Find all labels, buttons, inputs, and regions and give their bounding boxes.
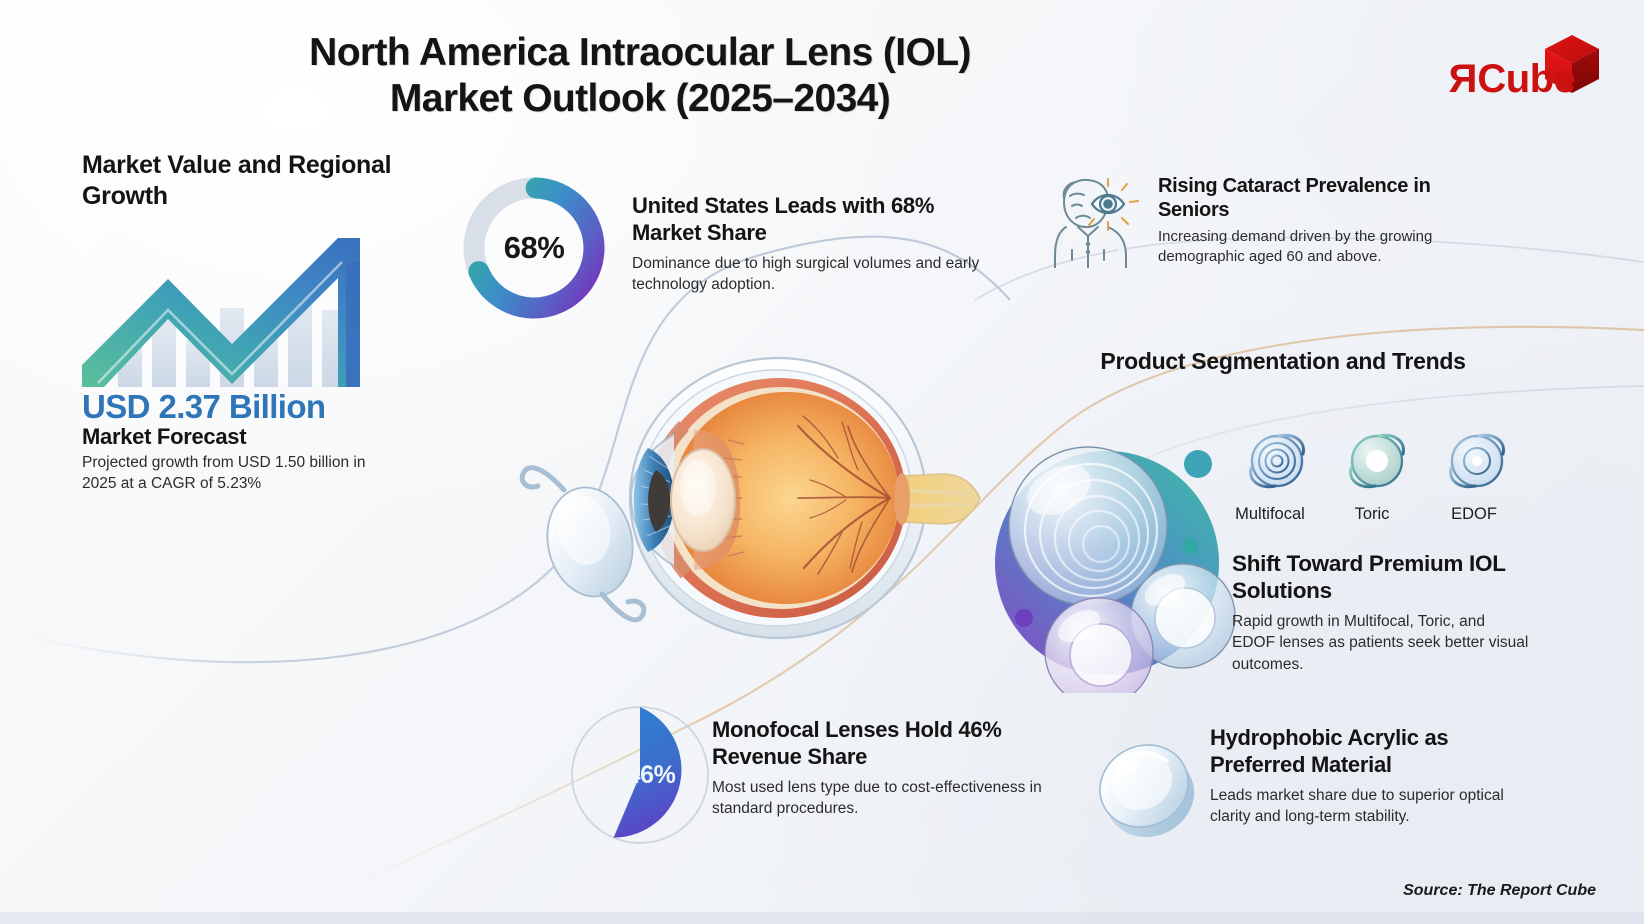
market-value-heading: Market Value and Regional Growth [82, 150, 412, 211]
market-forecast-description: Projected growth from USD 1.50 billion i… [82, 452, 392, 495]
lens-label-toric: Toric [1324, 505, 1420, 524]
page-title: North America Intraocular Lens (IOL) Mar… [0, 30, 1280, 122]
monofocal-block: Monofocal Lenses Hold 46% Revenue Share … [712, 717, 1062, 819]
monofocal-title: Monofocal Lenses Hold 46% Revenue Share [712, 717, 1062, 771]
lens-label-multifocal: Multifocal [1222, 505, 1318, 524]
growth-chart-icon [80, 222, 385, 387]
material-block: Hydrophobic Acrylic as Preferred Materia… [1210, 725, 1540, 827]
cataract-title: Rising Cataract Prevalence in Seniors [1158, 174, 1498, 223]
premium-lens-cluster-illustration [975, 418, 1240, 693]
market-forecast-value: USD 2.37 Billion [82, 388, 325, 426]
lens-label-edof: EDOF [1426, 505, 1522, 524]
material-description: Leads market share due to superior optic… [1210, 785, 1540, 828]
iol-type-labels: Multifocal Toric EDOF [1222, 505, 1522, 524]
iol-type-icons [1232, 414, 1522, 504]
logo-word: Cube [1477, 57, 1575, 101]
eye-anatomy-illustration [498, 330, 988, 660]
premium-shift-block: Shift Toward Premium IOL Solutions Rapid… [1232, 550, 1532, 675]
toric-icon [1351, 435, 1404, 486]
iol-implant-illustration [522, 468, 644, 620]
page-title-line2: Market Outlook (2025–2034) [0, 76, 1280, 122]
market-forecast-subtitle: Market Forecast [82, 424, 246, 450]
infographic-canvas: North America Intraocular Lens (IOL) Mar… [0, 0, 1644, 924]
edof-icon [1451, 435, 1504, 486]
brand-logo[interactable]: RCube [1449, 32, 1599, 112]
monofocal-percent-label: 46% [565, 700, 715, 850]
multifocal-icon [1251, 435, 1304, 486]
senior-cataract-eye-icon [1052, 172, 1144, 268]
us-share-description: Dominance due to high surgical volumes a… [632, 253, 982, 296]
source-credit: Source: The Report Cube [1403, 882, 1596, 900]
premium-shift-title: Shift Toward Premium IOL Solutions [1232, 550, 1532, 605]
logo-wordmark: RCube [1449, 57, 1575, 102]
material-title: Hydrophobic Acrylic as Preferred Materia… [1210, 725, 1540, 779]
us-share-percent-label: 68% [458, 172, 610, 324]
cataract-description: Increasing demand driven by the growing … [1158, 227, 1498, 268]
acrylic-lens-icon [1088, 718, 1204, 844]
bottom-bar [0, 912, 1644, 924]
us-share-title: United States Leads with 68% Market Shar… [632, 193, 982, 247]
us-market-share-block: United States Leads with 68% Market Shar… [632, 193, 982, 295]
page-title-line1: North America Intraocular Lens (IOL) [0, 30, 1280, 76]
product-segmentation-heading: Product Segmentation and Trends [1048, 348, 1518, 375]
logo-letter-r: R [1449, 57, 1477, 102]
premium-shift-description: Rapid growth in Multifocal, Toric, and E… [1232, 611, 1532, 675]
monofocal-description: Most used lens type due to cost-effectiv… [712, 777, 1062, 820]
cataract-prevalence-block: Rising Cataract Prevalence in Seniors In… [1158, 174, 1498, 268]
